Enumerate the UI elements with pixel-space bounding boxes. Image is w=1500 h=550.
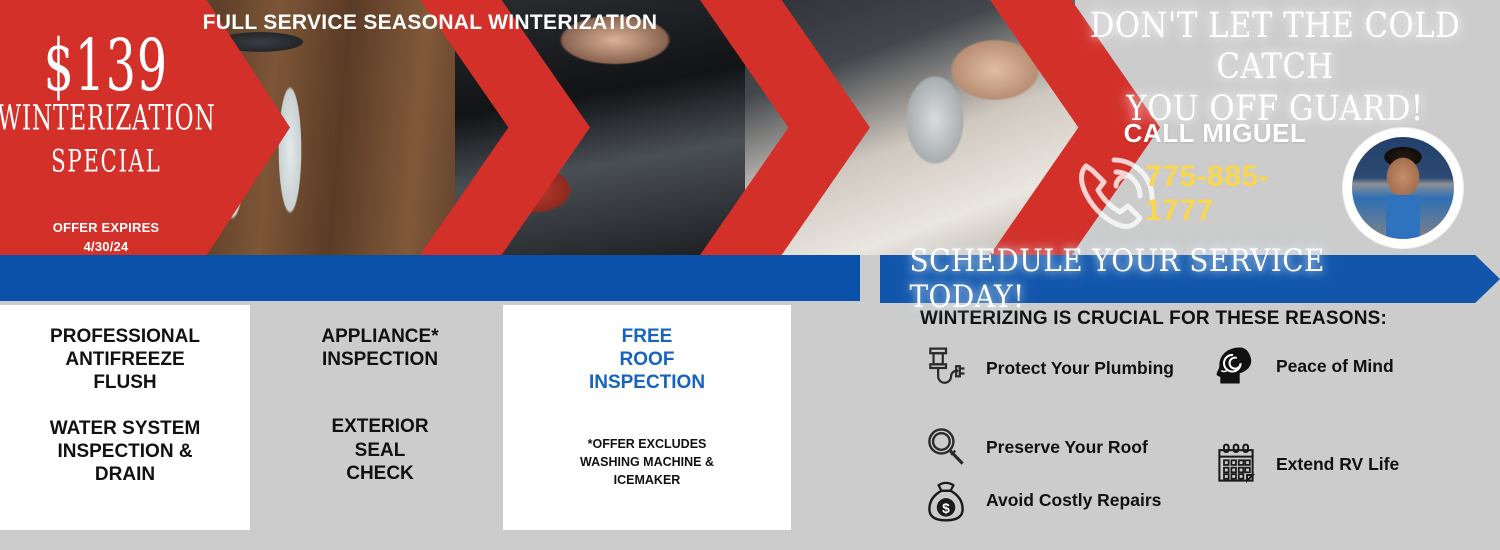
call-label-row: CALL MIGUEL: [1050, 118, 1380, 149]
avatar-photo: [1352, 137, 1454, 239]
fine-print-line: *OFFER EXCLUDES: [503, 435, 791, 453]
schedule-banner-text: SCHEDULE YOUR SERVICE TODAY!: [910, 243, 1441, 315]
offer-line-winterization: WINTERIZATION: [0, 101, 215, 135]
service-line: PROFESSIONAL: [0, 325, 250, 348]
reason-label: Protect Your Plumbing: [986, 358, 1174, 379]
service-column-roof: FREE ROOF INSPECTION *OFFER EXCLUDES WAS…: [503, 305, 791, 489]
reason-item: Preserve Your Roof: [920, 421, 1148, 473]
bottom-section: PROFESSIONAL ANTIFREEZE FLUSH WATER SYST…: [0, 301, 1500, 550]
service-line: ROOF: [503, 348, 791, 371]
service-line: ANTIFREEZE: [0, 348, 250, 371]
reason-item: Protect Your Plumbing: [920, 342, 1174, 394]
money-bag-icon: $: [920, 474, 972, 526]
service-block: WATER SYSTEM INSPECTION & DRAIN: [0, 417, 250, 487]
service-block: APPLIANCE* INSPECTION: [255, 325, 505, 371]
service-block: EXTERIOR SEAL CHECK: [255, 415, 505, 485]
offer-expiry-label: OFFER EXPIRES: [53, 219, 160, 238]
pipe-trap-icon: [920, 342, 972, 394]
fine-print-line: ICEMAKER: [503, 471, 791, 489]
reason-item: Extend RV Life: [1210, 438, 1399, 490]
reason-label: Preserve Your Roof: [986, 437, 1148, 458]
hero-headline: DON'T LET THE COLD CATCH YOU OFF GUARD!: [1077, 0, 1473, 130]
service-line: APPLIANCE*: [255, 325, 505, 348]
service-fine-print: *OFFER EXCLUDES WASHING MACHINE & ICEMAK…: [503, 435, 791, 489]
offer-expiry: OFFER EXPIRES 4/30/24: [53, 219, 160, 255]
reason-label: Avoid Costly Repairs: [986, 490, 1161, 511]
fine-print-line: WASHING MACHINE &: [503, 453, 791, 471]
service-line: SEAL: [255, 439, 505, 462]
service-line: FREE: [503, 325, 791, 348]
head-spiral-icon: [1210, 340, 1262, 392]
calendar-icon: [1210, 438, 1262, 490]
phone-number[interactable]: 775-885-1777: [1145, 160, 1330, 227]
offer-expiry-date: 4/30/24: [53, 238, 160, 255]
service-block: PROFESSIONAL ANTIFREEZE FLUSH: [0, 325, 250, 395]
call-label: CALL MIGUEL: [1124, 118, 1307, 148]
service-line: EXTERIOR: [255, 415, 505, 438]
service-line: FLUSH: [0, 371, 250, 394]
reason-item: $ Avoid Costly Repairs: [920, 474, 1161, 526]
offer-block: $139 WINTERIZATION SPECIAL OFFER EXPIRES…: [0, 0, 212, 255]
reason-item: Peace of Mind: [1210, 340, 1394, 392]
service-column-antifreeze: PROFESSIONAL ANTIFREEZE FLUSH WATER SYST…: [0, 305, 250, 486]
winterization-advertisement: $139 WINTERIZATION SPECIAL OFFER EXPIRES…: [0, 0, 1500, 550]
schedule-banner-label: SCHEDULE YOUR SERVICE TODAY!: [880, 255, 1470, 303]
service-line: CHECK: [255, 462, 505, 485]
service-line: INSPECTION &: [0, 440, 250, 463]
avatar: [1343, 128, 1463, 248]
magnifying-glass-icon: [920, 421, 972, 473]
service-line: DRAIN: [0, 463, 250, 486]
offer-line-special: SPECIAL: [51, 147, 161, 178]
offer-price: $139: [44, 30, 168, 101]
service-line: INSPECTION: [503, 371, 791, 394]
service-line: WATER SYSTEM: [0, 417, 250, 440]
svg-text:$: $: [942, 500, 950, 516]
service-column-appliance: APPLIANCE* INSPECTION EXTERIOR SEAL CHEC…: [255, 305, 505, 485]
reason-label: Peace of Mind: [1276, 356, 1394, 377]
service-banner-left: [0, 255, 860, 301]
reason-label: Extend RV Life: [1276, 454, 1399, 475]
service-block: FREE ROOF INSPECTION: [503, 325, 791, 395]
service-line: INSPECTION: [255, 348, 505, 371]
hero-headline-line-1: DON'T LET THE COLD CATCH: [1077, 6, 1473, 89]
